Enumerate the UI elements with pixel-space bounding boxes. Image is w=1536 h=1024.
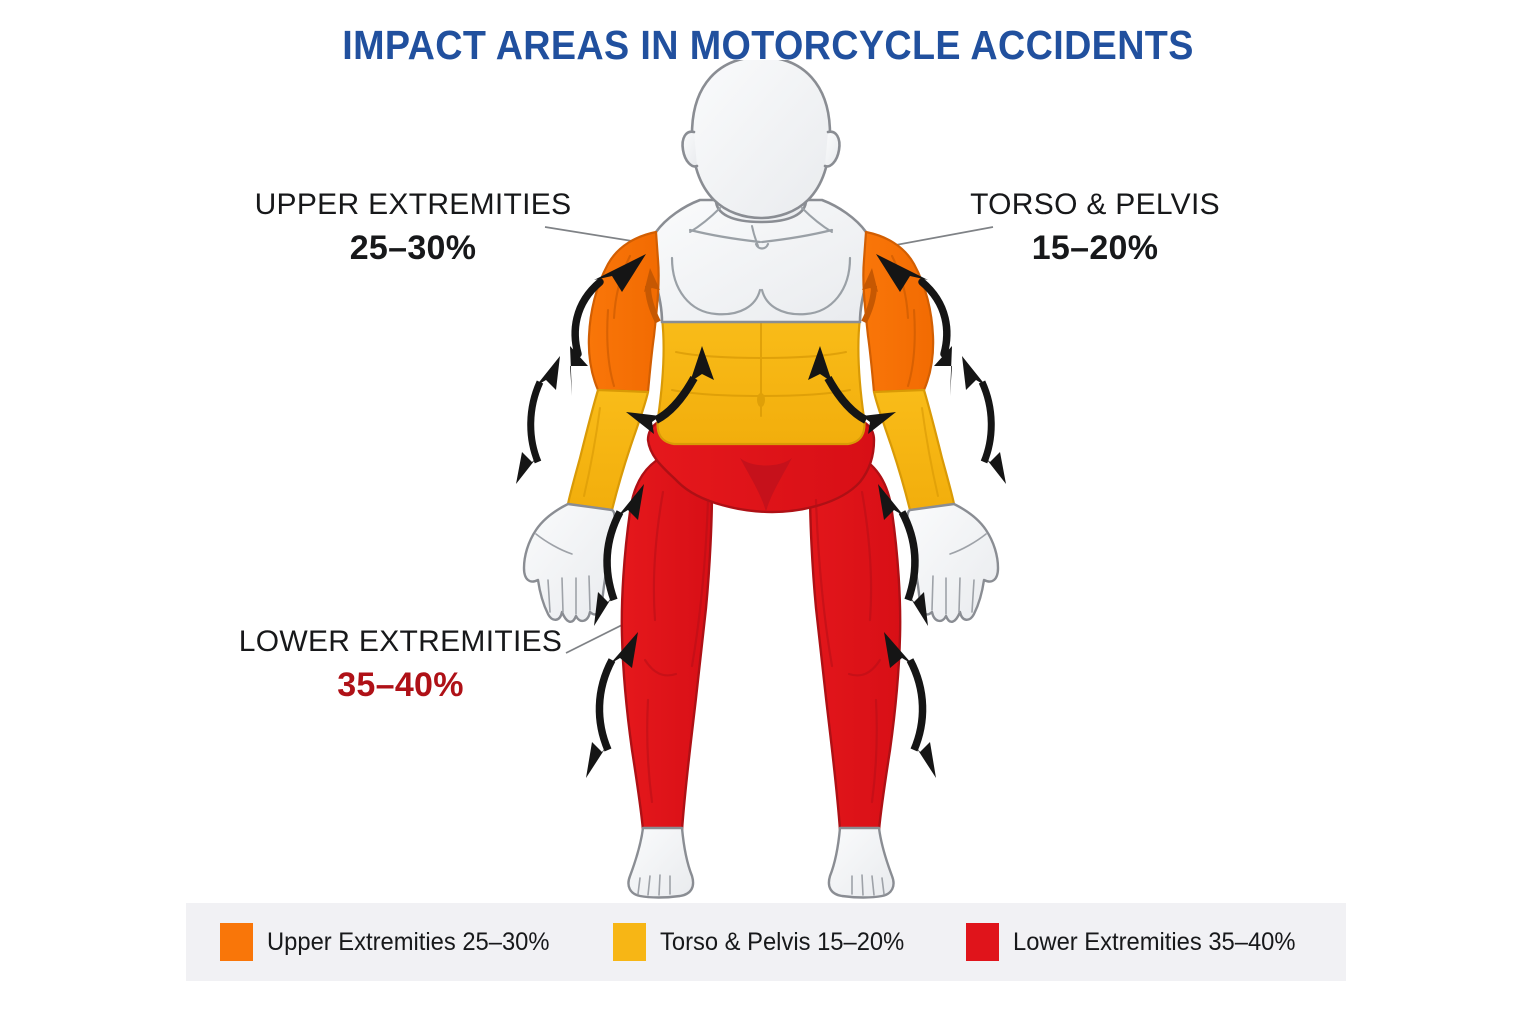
legend-label-torso-pelvis: Torso & Pelvis 15–20%: [660, 928, 904, 957]
callout-lower-value: 35–40%: [228, 666, 573, 704]
callout-upper-extremities: UPPER EXTREMITIES 25–30%: [248, 188, 578, 267]
body-diagram: [0, 60, 1536, 900]
legend-item-torso-pelvis: Torso & Pelvis 15–20%: [613, 923, 917, 961]
callout-torso-label: TORSO & PELVIS: [930, 188, 1260, 222]
legend-swatch-red: [966, 923, 999, 961]
navel: [757, 393, 765, 407]
head: [692, 60, 830, 218]
zone-lower-extremities: [622, 416, 900, 830]
arrow-forearm-left-curve: [531, 382, 540, 462]
body-figure: [524, 60, 998, 898]
legend-panel: Upper Extremities 25–30% Torso & Pelvis …: [186, 903, 1346, 981]
arrow-shin-right-curve: [910, 660, 923, 750]
left-upper-arm: [589, 232, 659, 392]
arrow-forearm-left: [516, 356, 560, 484]
arrow-forearm-right: [962, 356, 1006, 484]
feet: [628, 828, 893, 898]
legend-swatch-orange: [220, 923, 253, 961]
callout-torso-value: 15–20%: [930, 229, 1260, 267]
hands: [524, 504, 998, 622]
callout-lower-extremities: LOWER EXTREMITIES 35–40%: [228, 625, 573, 704]
callout-upper-label: UPPER EXTREMITIES: [248, 188, 578, 222]
legend-label-upper-extremities: Upper Extremities 25–30%: [267, 928, 550, 957]
legend-item-upper-extremities: Upper Extremities 25–30%: [220, 923, 564, 961]
infographic-canvas: IMPACT AREAS IN MOTORCYCLE ACCIDENTS: [0, 0, 1536, 1024]
right-upper-arm: [863, 232, 933, 392]
legend-label-lower-extremities: Lower Extremities 35–40%: [1013, 928, 1296, 957]
legend-swatch-yellow: [613, 923, 646, 961]
callout-torso-pelvis: TORSO & PELVIS 15–20%: [930, 188, 1260, 267]
callout-upper-value: 25–30%: [248, 229, 578, 267]
arrow-shin-left-curve: [599, 660, 612, 750]
head-and-neck: [683, 60, 840, 222]
arrow-forearm-right-curve: [982, 382, 991, 462]
callout-lower-label: LOWER EXTREMITIES: [228, 625, 573, 659]
legend-item-lower-extremities: Lower Extremities 35–40%: [966, 923, 1310, 961]
